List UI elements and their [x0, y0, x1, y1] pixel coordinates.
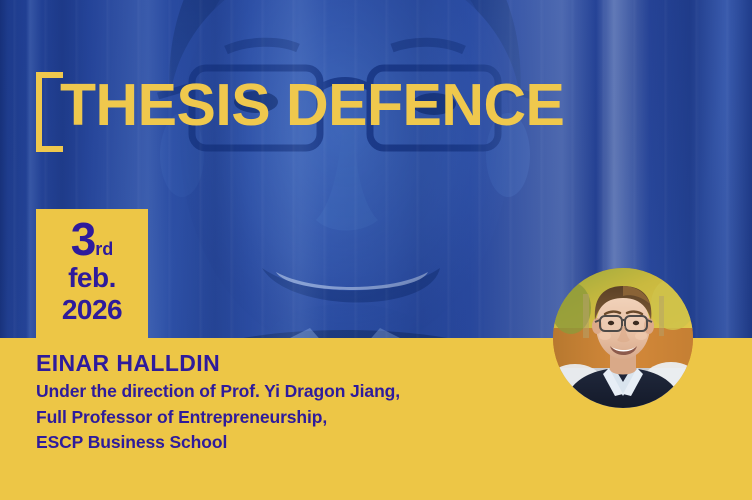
speaker-supervisor-line: Under the direction of Prof. Yi Dragon J…	[36, 379, 400, 404]
speaker-name: EINAR HALLDIN	[36, 350, 400, 376]
date-badge: 3rd feb. 2026	[36, 209, 148, 339]
speaker-portrait-photo	[553, 268, 693, 408]
thesis-defence-poster: THESIS DEFENCE 3rd feb. 2026 EINAR HALLD…	[0, 0, 752, 500]
date-ordinal-suffix: rd	[95, 239, 113, 259]
speaker-institution-line: ESCP Business School	[36, 430, 400, 455]
open-bracket-icon	[36, 72, 63, 152]
speaker-block: EINAR HALLDIN Under the direction of Pro…	[36, 350, 400, 456]
date-year: 2026	[36, 294, 148, 325]
date-day-number: 3	[71, 213, 96, 265]
portrait-illustration	[553, 268, 693, 408]
page-title: THESIS DEFENCE	[60, 76, 564, 135]
date-day: 3rd	[36, 218, 148, 262]
date-month: feb.	[36, 262, 148, 294]
speaker-supervisor-title-line: Full Professor of Entrepreneurship,	[36, 405, 400, 430]
